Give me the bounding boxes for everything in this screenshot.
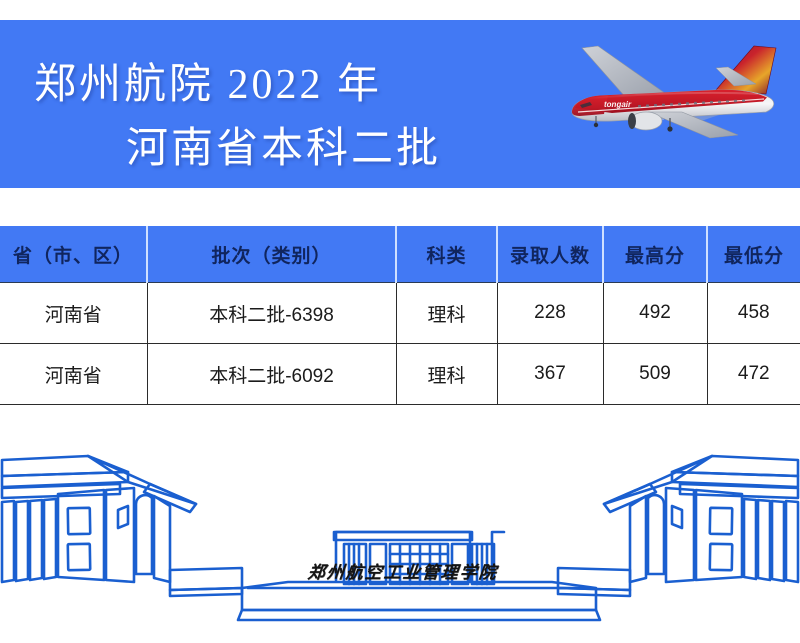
cell-admitted: 228 [497,283,603,344]
cell-batch: 本科二批-6398 [147,283,396,344]
column-header-admitted: 录取人数 [497,226,603,283]
table-row: 河南省 本科二批-6398 理科 228 492 458 [0,283,800,344]
svg-text:tongair: tongair [604,100,632,109]
admission-results-table-area: 省（市、区） 批次（类别） 科类 录取人数 最高分 最低分 河南省 本科二批-6… [0,226,800,405]
cell-lowest: 472 [707,344,800,405]
airplane-icon: tongair [520,28,800,188]
banner-title-line-2: 河南省本科二批 [126,128,441,170]
gate-sign-text: 郑州航空工业管理学院 [257,558,550,583]
banner-title-line-1: 郑州航院 2022 年 [34,64,382,106]
cell-highest: 509 [603,344,707,405]
column-header-highest: 最高分 [603,226,707,283]
column-header-province: 省（市、区） [0,226,147,283]
cell-batch: 本科二批-6092 [147,344,396,405]
cell-subject: 理科 [396,283,497,344]
header-banner: 郑州航院 2022 年 河南省本科二批 [0,20,800,188]
column-header-batch: 批次（类别） [147,226,396,283]
campus-gate-icon [0,432,800,638]
table-body: 河南省 本科二批-6398 理科 228 492 458 河南省 本科二批-60… [0,283,800,405]
cell-highest: 492 [603,283,707,344]
table-header-row: 省（市、区） 批次（类别） 科类 录取人数 最高分 最低分 [0,226,800,283]
cell-subject: 理科 [396,344,497,405]
table-row: 河南省 本科二批-6092 理科 367 509 472 [0,344,800,405]
cell-admitted: 367 [497,344,603,405]
cell-province: 河南省 [0,283,147,344]
admission-results-table: 省（市、区） 批次（类别） 科类 录取人数 最高分 最低分 河南省 本科二批-6… [0,226,800,405]
cell-lowest: 458 [707,283,800,344]
cell-province: 河南省 [0,344,147,405]
column-header-lowest: 最低分 [707,226,800,283]
table-header: 省（市、区） 批次（类别） 科类 录取人数 最高分 最低分 [0,226,800,283]
banner-title-block: 郑州航院 2022 年 河南省本科二批 [0,20,560,188]
column-header-subject: 科类 [396,226,497,283]
